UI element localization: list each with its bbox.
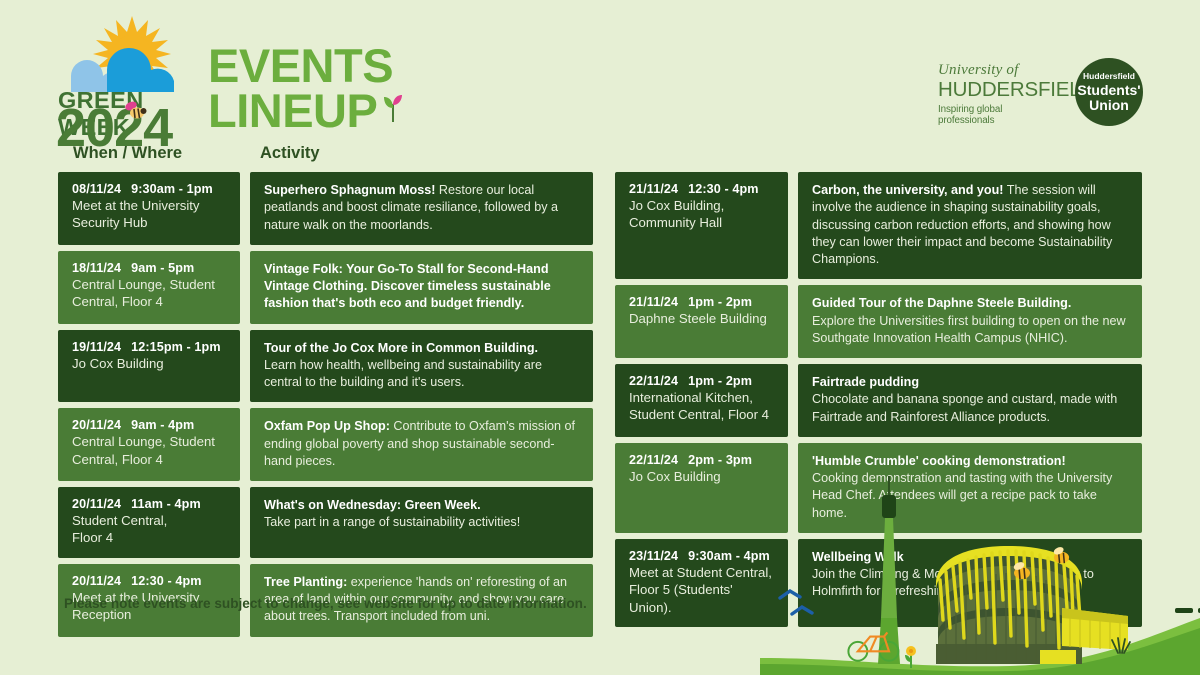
event-time: 2pm - 3pm <box>688 453 752 467</box>
event-activity-body: Cooking demonstration and tasting with t… <box>812 471 1112 520</box>
event-date: 23/11/24 <box>629 549 678 563</box>
poster-title: EVENTS LINEUP <box>208 44 393 133</box>
event-date: 20/11/24 <box>72 418 121 432</box>
tower-collar <box>1175 608 1193 613</box>
event-row: 21/11/241pm - 2pmDaphne Steele BuildingG… <box>615 285 1142 358</box>
event-activity-cell: Vintage Folk: Your Go-To Stall for Secon… <box>250 251 593 324</box>
event-when-where-cell: 08/11/249:30am - 1pmMeet at the Universi… <box>58 172 240 245</box>
event-row: 23/11/249:30am - 4pmMeet at Student Cent… <box>615 539 1142 627</box>
event-activity-title: Fairtrade pudding <box>812 375 919 389</box>
event-activity-cell: Fairtrade pudding Chocolate and banana s… <box>798 364 1142 437</box>
event-activity-title: Vintage Folk: Your Go-To Stall for Secon… <box>264 262 551 311</box>
event-when-where-cell: 22/11/241pm - 2pmInternational Kitchen, … <box>615 364 788 437</box>
event-activity-title: Tour of the Jo Cox More in Common Buildi… <box>264 341 538 355</box>
sprout-icon <box>382 92 404 122</box>
university-logo-line2: HUDDERSFIELD <box>938 78 1058 102</box>
event-location: Meet at the University Security Hub <box>72 197 228 232</box>
event-datetime: 21/11/2412:30 - 4pm <box>629 182 776 196</box>
event-location: International Kitchen, Student Central, … <box>629 389 776 424</box>
event-activity-text: Wellbeing Walk Join the Climbing & Mount… <box>812 549 1130 601</box>
event-activity-cell: Carbon, the university, and you! The ses… <box>798 172 1142 279</box>
event-datetime: 22/11/241pm - 2pm <box>629 374 776 388</box>
event-when-where-cell: 19/11/2412:15pm - 1pmJo Cox Building <box>58 330 240 403</box>
event-activity-body: Learn how health, wellbeing and sustaina… <box>264 358 542 389</box>
event-time: 12:30 - 4pm <box>688 182 758 196</box>
event-time: 11am - 4pm <box>131 497 201 511</box>
event-time: 12:15pm - 1pm <box>131 340 221 354</box>
grass-hill-shadow <box>760 628 1200 675</box>
event-datetime: 18/11/249am - 5pm <box>72 261 228 275</box>
event-time: 12:30 - 4pm <box>131 574 201 588</box>
event-activity-title: Guided Tour of the Daphne Steele Buildin… <box>812 296 1071 310</box>
event-row: 20/11/2411am - 4pmStudent Central, Floor… <box>58 487 593 558</box>
event-activity-body: Take part in a range of sustainability a… <box>264 515 520 529</box>
event-location: Central Lounge, Student Central, Floor 4 <box>72 433 228 468</box>
title-line-lineup: LINEUP <box>208 89 393 134</box>
event-activity-text: Oxfam Pop Up Shop: Contribute to Oxfam's… <box>264 418 581 470</box>
event-date: 21/11/24 <box>629 182 678 196</box>
event-date: 08/11/24 <box>72 182 121 196</box>
event-row: 20/11/249am - 4pmCentral Lounge, Student… <box>58 408 593 481</box>
event-activity-text: Superhero Sphagnum Moss! Restore our loc… <box>264 182 581 234</box>
disclaimer-note: Please note events are subject to change… <box>64 596 587 611</box>
event-activity-title: Superhero Sphagnum Moss! <box>264 183 435 197</box>
event-activity-title: Oxfam Pop Up Shop: <box>264 419 390 433</box>
event-activity-title: Wellbeing Walk <box>812 550 904 564</box>
event-time: 9:30am - 1pm <box>131 182 213 196</box>
university-logo: University of HUDDERSFIELD Inspiring glo… <box>938 62 1058 126</box>
event-activity-body: Join the Climbing & Mountaineering Club'… <box>812 567 1094 598</box>
event-activity-cell: 'Humble Crumble' cooking demonstration! … <box>798 443 1142 533</box>
event-activity-text: Guided Tour of the Daphne Steele Buildin… <box>812 295 1130 347</box>
event-location: Jo Cox Building, Community Hall <box>629 197 776 232</box>
green-week-logo: GREEN WEEK 2024 <box>57 14 207 134</box>
event-location: Central Lounge, Student Central, Floor 4 <box>72 276 228 311</box>
event-time: 1pm - 2pm <box>688 374 752 388</box>
event-datetime: 23/11/249:30am - 4pm <box>629 549 776 563</box>
event-date: 18/11/24 <box>72 261 121 275</box>
event-when-where-cell: 23/11/249:30am - 4pmMeet at Student Cent… <box>615 539 788 627</box>
students-union-line3: Union <box>1075 98 1143 114</box>
events-column-left: 08/11/249:30am - 1pmMeet at the Universi… <box>58 172 593 643</box>
event-datetime: 21/11/241pm - 2pm <box>629 295 776 309</box>
event-location: Daphne Steele Building <box>629 310 776 327</box>
event-row: 18/11/249am - 5pmCentral Lounge, Student… <box>58 251 593 324</box>
event-when-where-cell: 20/11/249am - 4pmCentral Lounge, Student… <box>58 408 240 481</box>
event-date: 22/11/24 <box>629 374 678 388</box>
event-date: 21/11/24 <box>629 295 678 309</box>
bicycle-icon <box>848 632 898 660</box>
title-line-events: EVENTS <box>208 44 393 89</box>
event-location: Student Central, Floor 4 <box>72 512 228 547</box>
event-date: 19/11/24 <box>72 340 121 354</box>
events-column-right: 21/11/2412:30 - 4pmJo Cox Building, Comm… <box>615 172 1142 633</box>
university-logo-line1: University of <box>938 62 1058 79</box>
university-logo-tagline: Inspiring global professionals <box>938 104 1058 126</box>
event-activity-cell: Superhero Sphagnum Moss! Restore our loc… <box>250 172 593 245</box>
event-activity-title: Carbon, the university, and you! <box>812 183 1004 197</box>
flower-icon <box>905 646 916 668</box>
event-datetime: 20/11/2412:30 - 4pm <box>72 574 228 588</box>
event-activity-cell: Oxfam Pop Up Shop: Contribute to Oxfam's… <box>250 408 593 481</box>
event-location: Meet at Student Central, Floor 5 (Studen… <box>629 564 776 616</box>
event-activity-title: Tree Planting: <box>264 575 347 589</box>
event-datetime: 19/11/2412:15pm - 1pm <box>72 340 228 354</box>
green-week-events-poster: GREEN WEEK 2024 EVENTS LINEUP University… <box>0 0 1200 675</box>
event-datetime: 20/11/249am - 4pm <box>72 418 228 432</box>
event-datetime: 22/11/242pm - 3pm <box>629 453 776 467</box>
event-activity-cell: Wellbeing Walk Join the Climbing & Mount… <box>798 539 1142 627</box>
event-activity-cell: Guided Tour of the Daphne Steele Buildin… <box>798 285 1142 358</box>
event-activity-cell: Tour of the Jo Cox More in Common Buildi… <box>250 330 593 403</box>
grass-icon <box>1112 638 1130 653</box>
event-location: Jo Cox Building <box>72 355 228 372</box>
event-activity-text: Carbon, the university, and you! The ses… <box>812 182 1130 268</box>
event-activity-text: 'Humble Crumble' cooking demonstration! … <box>812 453 1130 522</box>
event-date: 22/11/24 <box>629 453 678 467</box>
event-time: 1pm - 2pm <box>688 295 752 309</box>
event-activity-body: Chocolate and banana sponge and custard,… <box>812 392 1117 423</box>
event-location: Jo Cox Building <box>629 468 776 485</box>
event-activity-title: What's on Wednesday: Green Week. <box>264 498 481 512</box>
event-date: 20/11/24 <box>72 574 121 588</box>
poster-header: GREEN WEEK 2024 EVENTS LINEUP University… <box>0 0 1200 140</box>
event-when-where-cell: 20/11/2411am - 4pmStudent Central, Floor… <box>58 487 240 558</box>
event-when-where-cell: 22/11/242pm - 3pmJo Cox Building <box>615 443 788 533</box>
event-row: 19/11/2412:15pm - 1pmJo Cox BuildingTour… <box>58 330 593 403</box>
event-activity-text: Tour of the Jo Cox More in Common Buildi… <box>264 340 581 392</box>
event-activity-text: Vintage Folk: Your Go-To Stall for Secon… <box>264 261 581 313</box>
event-when-where-cell: 21/11/2412:30 - 4pmJo Cox Building, Comm… <box>615 172 788 279</box>
bee-icon <box>122 100 148 122</box>
event-row: 21/11/2412:30 - 4pmJo Cox Building, Comm… <box>615 172 1142 279</box>
event-activity-text: Fairtrade pudding Chocolate and banana s… <box>812 374 1130 426</box>
event-time: 9am - 5pm <box>131 261 194 275</box>
event-when-where-cell: 21/11/241pm - 2pmDaphne Steele Building <box>615 285 788 358</box>
event-activity-body: Explore the Universities first building … <box>812 314 1126 345</box>
event-when-where-cell: 18/11/249am - 5pmCentral Lounge, Student… <box>58 251 240 324</box>
event-activity-title: 'Humble Crumble' cooking demonstration! <box>812 454 1066 468</box>
event-row: 22/11/241pm - 2pmInternational Kitchen, … <box>615 364 1142 437</box>
event-row: 08/11/249:30am - 1pmMeet at the Universi… <box>58 172 593 245</box>
event-time: 9am - 4pm <box>131 418 194 432</box>
column-header-when-where: When / Where <box>73 144 182 163</box>
event-activity-cell: What's on Wednesday: Green Week. Take pa… <box>250 487 593 558</box>
event-time: 9:30am - 4pm <box>688 549 770 563</box>
column-header-activity: Activity <box>260 144 320 163</box>
event-activity-text: What's on Wednesday: Green Week. Take pa… <box>264 497 581 532</box>
event-datetime: 20/11/2411am - 4pm <box>72 497 228 511</box>
event-datetime: 08/11/249:30am - 1pm <box>72 182 228 196</box>
event-date: 20/11/24 <box>72 497 121 511</box>
students-union-line1: Huddersfield <box>1075 72 1143 81</box>
event-row: 22/11/242pm - 3pmJo Cox Building'Humble … <box>615 443 1142 533</box>
students-union-logo: Huddersfield Students' Union <box>1075 58 1143 126</box>
students-union-line2: Students' <box>1075 83 1143 99</box>
